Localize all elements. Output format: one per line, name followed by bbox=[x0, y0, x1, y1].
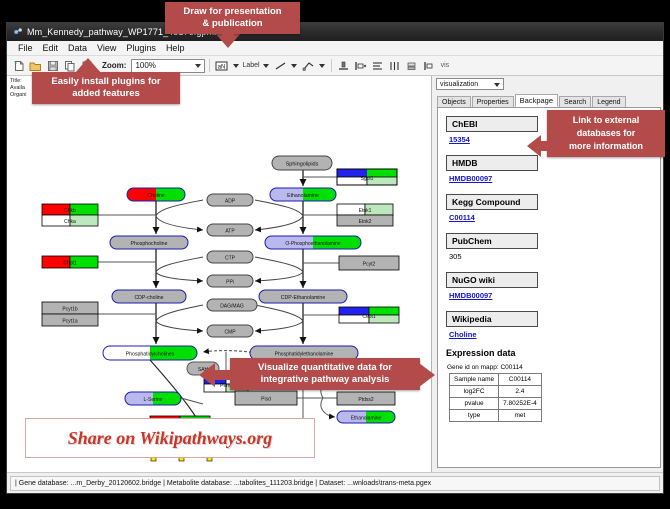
callout-visualize-arrow-right-icon bbox=[419, 363, 435, 387]
svg-text:Ethanolamine: Ethanolamine bbox=[287, 193, 319, 199]
node-cmp: CMP bbox=[207, 325, 253, 337]
shape-tool-icon[interactable] bbox=[301, 58, 316, 73]
svg-text:Sphingolipids: Sphingolipids bbox=[286, 162, 319, 168]
menu-data[interactable]: Data bbox=[63, 43, 92, 53]
toolbar-separator-2 bbox=[331, 59, 332, 72]
stack-icon[interactable] bbox=[404, 58, 419, 73]
svg-text:Chka: Chka bbox=[64, 219, 76, 225]
chevron-down-icon bbox=[494, 83, 500, 87]
zoom-combobox[interactable]: 100% bbox=[131, 59, 205, 73]
zoom-label: Zoom: bbox=[102, 61, 126, 70]
svg-text:Chpt1: Chpt1 bbox=[63, 261, 77, 267]
svg-text:O-Phosphoethanolamine: O-Phosphoethanolamine bbox=[285, 241, 341, 247]
callout-plugins-line1: Easily install plugins for bbox=[40, 76, 172, 88]
node-atp: ATP bbox=[207, 224, 253, 236]
cell-type-label: type bbox=[450, 410, 499, 422]
node-ctp: CTP bbox=[207, 251, 253, 263]
node-chkb: Chkb bbox=[42, 204, 98, 215]
align-bottom-icon[interactable] bbox=[336, 58, 351, 73]
screenshot-root: Mm_Kennedy_pathway_WP1771_45176.gpml Fil… bbox=[0, 0, 670, 509]
node-choline-top: Choline bbox=[127, 188, 185, 201]
nugo-wiki-header: NuGO wiki bbox=[446, 272, 538, 288]
menu-edit[interactable]: Edit bbox=[38, 43, 64, 53]
node-chpt1: Chpt1 bbox=[42, 256, 98, 268]
svg-text:Sgpl1: Sgpl1 bbox=[361, 176, 374, 182]
kegg-compound-header: Kegg Compound bbox=[446, 194, 538, 210]
expression-data-table: Sample name C00114 log2FC 2.4 pvalue 7.8… bbox=[449, 373, 542, 422]
svg-text:Pisd: Pisd bbox=[261, 397, 271, 403]
hmdb-link[interactable]: HMDB00097 bbox=[449, 174, 660, 183]
banner-share-text: Share on Wikipathways.org bbox=[68, 428, 273, 449]
menu-view[interactable]: View bbox=[92, 43, 121, 53]
svg-text:CDP-Ethanolamine: CDP-Ethanolamine bbox=[281, 295, 326, 301]
order-icon[interactable] bbox=[421, 58, 436, 73]
align-left-icon[interactable] bbox=[353, 58, 368, 73]
tab-properties[interactable]: Properties bbox=[472, 96, 514, 107]
svg-text:ADP: ADP bbox=[225, 199, 236, 205]
svg-text:Phosphatidylcholines: Phosphatidylcholines bbox=[126, 352, 175, 358]
backpage-content: ChEBI 15354 HMDB HMDB00097 Kegg Compound… bbox=[437, 108, 661, 468]
svg-text:Pcyt2: Pcyt2 bbox=[363, 262, 376, 268]
svg-text:Etnk2: Etnk2 bbox=[359, 219, 372, 225]
menu-help[interactable]: Help bbox=[161, 43, 190, 53]
save-icon[interactable] bbox=[45, 58, 60, 73]
open-folder-icon[interactable] bbox=[28, 58, 43, 73]
label-tool-text[interactable]: Label bbox=[242, 62, 259, 69]
callout-plugins-arrow-stem bbox=[82, 70, 94, 76]
svg-text:L-Serine: L-Serine bbox=[144, 397, 163, 403]
wikipedia-header: Wikipedia bbox=[446, 311, 538, 327]
tab-legend[interactable]: Legend bbox=[592, 96, 625, 107]
cell-pvalue-label: pvalue bbox=[450, 398, 499, 410]
svg-text:DAG/MAG: DAG/MAG bbox=[220, 304, 244, 310]
callout-visualize-line1: Visualize quantitative data for bbox=[238, 362, 412, 374]
new-file-icon[interactable] bbox=[11, 58, 26, 73]
menu-bar: File Edit Data View Plugins Help bbox=[7, 41, 663, 56]
cell-log2fc-label: log2FC bbox=[450, 386, 499, 398]
svg-text:aN: aN bbox=[218, 64, 226, 70]
callout-draw-line1: Draw for presentation bbox=[173, 6, 292, 18]
callout-visualize-arrow-left-icon bbox=[199, 363, 215, 387]
node-etnk2: Etnk2 bbox=[337, 215, 393, 226]
table-row: pvalue 7.80252E-4 bbox=[450, 398, 542, 410]
visualization-toolbar-hint: vis bbox=[441, 62, 450, 69]
callout-links-line1: Link to external bbox=[555, 114, 657, 127]
node-phosphatidylcholines: Phosphatidylcholines bbox=[103, 346, 197, 360]
table-row: log2FC 2.4 bbox=[450, 386, 542, 398]
node-o-phosphoethanolamine: O-Phosphoethanolamine bbox=[265, 236, 361, 249]
node-pisd: Pisd bbox=[235, 391, 297, 405]
status-bar: | Gene database: ...m_Derby_20120602.bri… bbox=[7, 472, 663, 493]
shape-dropdown-icon[interactable] bbox=[318, 59, 327, 73]
distribute-horizontal-icon[interactable] bbox=[387, 58, 402, 73]
svg-text:Ptdss2: Ptdss2 bbox=[358, 397, 374, 403]
callout-visualize: Visualize quantitative data for integrat… bbox=[230, 358, 420, 390]
svg-text:CTP: CTP bbox=[225, 256, 236, 262]
node-l-serine-left: L-Serine bbox=[125, 392, 181, 405]
node-ptdss2: Ptdss2 bbox=[337, 392, 395, 405]
node-adp: ADP bbox=[207, 194, 253, 206]
svg-text:Phosphocholine: Phosphocholine bbox=[131, 241, 168, 247]
callout-draw-arrow-stem bbox=[222, 28, 234, 38]
node-chka: Chka bbox=[42, 215, 98, 226]
menu-file[interactable]: File bbox=[13, 43, 38, 53]
zoom-value: 100% bbox=[135, 61, 155, 70]
callout-links-line3: more information bbox=[555, 140, 657, 153]
pathway-canvas[interactable]: Title: Availa Organi bbox=[7, 76, 432, 472]
visualization-select-value: visualization bbox=[440, 81, 478, 88]
callout-plugins-line2: added features bbox=[40, 88, 172, 100]
node-pcyt1a: Pcyt1a bbox=[42, 314, 98, 326]
svg-text:Cept1: Cept1 bbox=[362, 314, 376, 320]
tab-backpage[interactable]: Backpage bbox=[515, 94, 558, 107]
pubchem-header: PubChem bbox=[446, 233, 538, 249]
svg-text:Phosphatidylethanolamine: Phosphatidylethanolamine bbox=[275, 352, 334, 358]
wikipedia-link[interactable]: Choline bbox=[449, 330, 660, 339]
pubchem-value: 305 bbox=[449, 252, 660, 261]
callout-links: Link to external databases for more info… bbox=[547, 110, 665, 157]
node-ethanolamine: Ethanolamine bbox=[270, 188, 336, 201]
svg-text:Ethanolamine: Ethanolamine bbox=[351, 416, 382, 422]
gene-id-on-mapp: Gene id on mapp: C00114 bbox=[447, 364, 660, 371]
callout-links-line2: databases for bbox=[555, 127, 657, 140]
node-etnk1: Etnk1 bbox=[337, 204, 393, 215]
cell-log2fc-value: 2.4 bbox=[499, 386, 542, 398]
node-cdp-ethanolamine: CDP-Ethanolamine bbox=[259, 290, 347, 303]
svg-text:Pcyt1a: Pcyt1a bbox=[62, 319, 78, 325]
hmdb-header: HMDB bbox=[446, 155, 538, 171]
line-dropdown-icon[interactable] bbox=[290, 59, 299, 73]
node-ethanolamine-right: Ethanolamine bbox=[337, 411, 395, 423]
table-row: type met bbox=[450, 410, 542, 422]
toolbar-separator bbox=[209, 59, 210, 72]
node-sgpl1: Sgpl1 bbox=[337, 169, 397, 185]
chebi-header: ChEBI bbox=[446, 116, 538, 132]
tab-objects[interactable]: Objects bbox=[437, 96, 471, 107]
callout-visualize-arrow-stem bbox=[214, 370, 232, 380]
line-tool-icon[interactable] bbox=[273, 58, 288, 73]
cell-sample-name-label: Sample name bbox=[450, 374, 499, 386]
node-dag-mag: DAG/MAG bbox=[207, 299, 257, 311]
callout-visualize-line2: integrative pathway analysis bbox=[238, 374, 412, 386]
callout-links-arrow-stem bbox=[540, 141, 550, 151]
svg-text:PPi: PPi bbox=[226, 280, 234, 286]
distribute-vertical-icon[interactable] bbox=[370, 58, 385, 73]
nugo-wiki-link[interactable]: HMDB00097 bbox=[449, 291, 660, 300]
status-text: | Gene database: ...m_Derby_20120602.bri… bbox=[10, 476, 660, 491]
table-row: Sample name C00114 bbox=[450, 374, 542, 386]
tab-search[interactable]: Search bbox=[559, 96, 591, 107]
callout-links-arrow-icon bbox=[527, 135, 541, 157]
svg-text:Choline: Choline bbox=[147, 193, 165, 199]
node-sphingolipids: Sphingolipids bbox=[272, 156, 332, 170]
title-bar: Mm_Kennedy_pathway_WP1771_45176.gpml bbox=[7, 23, 663, 41]
cell-pvalue-value: 7.80252E-4 bbox=[499, 398, 542, 410]
node-ppi: PPi bbox=[207, 275, 253, 287]
svg-text:Chkb: Chkb bbox=[64, 208, 76, 214]
svg-text:CMP: CMP bbox=[224, 330, 236, 336]
expression-data-title: Expression data bbox=[446, 348, 660, 358]
kegg-compound-link[interactable]: C00114 bbox=[449, 213, 660, 222]
chevron-down-icon bbox=[195, 64, 201, 68]
side-panel-tabs: Objects Properties Backpage Search Legen… bbox=[437, 95, 661, 108]
cell-sample-name-value: C00114 bbox=[499, 374, 542, 386]
datanode-dropdown-icon[interactable] bbox=[231, 59, 240, 73]
node-pcyt1b: Pcyt1b bbox=[42, 302, 98, 314]
svg-text:ATP: ATP bbox=[225, 229, 235, 235]
svg-text:Etnk1: Etnk1 bbox=[359, 208, 372, 214]
datanode-icon[interactable]: aN bbox=[214, 58, 229, 73]
svg-text:Pcyt1b: Pcyt1b bbox=[62, 307, 78, 313]
visualization-select[interactable]: visualization bbox=[436, 78, 504, 90]
label-dropdown-icon[interactable] bbox=[262, 59, 271, 73]
banner-share: Share on Wikipathways.org bbox=[25, 418, 315, 458]
app-icon bbox=[12, 27, 23, 38]
cell-type-value: met bbox=[499, 410, 542, 422]
svg-text:CDP-choline: CDP-choline bbox=[134, 295, 163, 301]
callout-plugins: Easily install plugins for added feature… bbox=[32, 72, 180, 104]
node-cept1: Cept1 bbox=[339, 307, 399, 323]
node-cdp-choline: CDP-choline bbox=[112, 290, 186, 303]
pathway-graph[interactable]: Sphingolipids Choline bbox=[7, 76, 432, 472]
node-phosphocholine: Phosphocholine bbox=[110, 236, 188, 249]
menu-plugins[interactable]: Plugins bbox=[121, 43, 161, 53]
node-pcyt2: Pcyt2 bbox=[339, 256, 399, 270]
